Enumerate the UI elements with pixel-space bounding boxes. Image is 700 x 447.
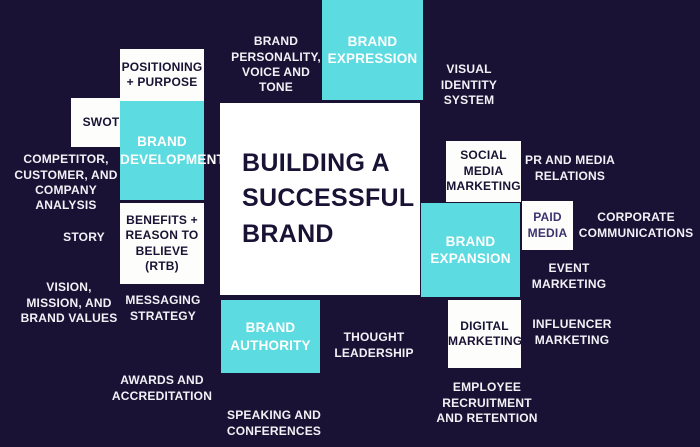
pillar-brand-authority-label: BRANDAUTHORITY	[221, 319, 320, 354]
pillar-brand-expansion: BRANDEXPANSION	[421, 203, 520, 297]
pillar-brand-authority: BRANDAUTHORITY	[221, 300, 320, 373]
node-corporate-communications: CORPORATECOMMUNICATIONS	[578, 207, 694, 244]
node-vision-mission-brand-values: VISION,MISSION, ANDBRAND VALUES	[14, 278, 124, 329]
node-social-media-marketing-label: SOCIALMEDIAMARKETING	[446, 148, 521, 194]
pillar-brand-development-label: BRANDDEVELOPMENT	[120, 133, 204, 168]
node-vision-mission-brand-values-label: VISION,MISSION, ANDBRAND VALUES	[14, 280, 124, 326]
node-brand-personality-voice-tone-label: BRANDPERSONALITY,VOICE ANDTONE	[230, 34, 322, 95]
node-speaking-and-conferences-label: SPEAKING ANDCONFERENCES	[222, 408, 326, 439]
node-brand-personality-voice-tone: BRANDPERSONALITY,VOICE ANDTONE	[230, 31, 322, 99]
node-corporate-communications-label: CORPORATECOMMUNICATIONS	[578, 210, 694, 241]
node-event-marketing-label: EVENTMARKETING	[524, 261, 614, 292]
center-card-building-a-successful-brand: BUILDING ASUCCESSFULBRAND	[220, 103, 420, 295]
node-social-media-marketing: SOCIALMEDIAMARKETING	[446, 141, 521, 202]
node-employee-recruitment-retention: EMPLOYEERECRUITMENTAND RETENTION	[434, 378, 540, 429]
node-pr-and-media-relations-label: PR AND MEDIARELATIONS	[522, 153, 618, 184]
node-thought-leadership: THOUGHTLEADERSHIP	[330, 327, 418, 364]
node-event-marketing: EVENTMARKETING	[524, 258, 614, 295]
pillar-brand-expansion-label: BRANDEXPANSION	[421, 233, 520, 268]
node-influencer-marketing: INFLUENCERMARKETING	[524, 314, 620, 351]
pillar-brand-expression: BRANDEXPRESSION	[322, 0, 423, 100]
center-card-label: BUILDING ASUCCESSFULBRAND	[242, 146, 414, 253]
node-story-label: STORY	[48, 230, 120, 245]
node-visual-identity-system-label: VISUALIDENTITYSYSTEM	[432, 62, 506, 108]
pillar-brand-expression-label: BRANDEXPRESSION	[322, 33, 423, 68]
node-digital-marketing-label: DIGITALMARKETING	[448, 319, 521, 350]
node-paid-media-label: PAIDMEDIA	[522, 210, 573, 241]
node-messaging-strategy: MESSAGINGSTRATEGY	[118, 290, 208, 327]
node-awards-accreditation-label: AWARDS ANDACCREDITATION	[110, 373, 214, 404]
node-awards-accreditation: AWARDS ANDACCREDITATION	[110, 370, 214, 407]
node-benefits-reason-to-believe: BENEFITS +REASON TOBELIEVE(RTB)	[120, 203, 204, 284]
node-positioning-purpose-label: POSITIONING+ PURPOSE	[120, 60, 204, 91]
node-story: STORY	[48, 228, 120, 248]
pillar-brand-development: BRANDDEVELOPMENT	[120, 101, 204, 200]
node-employee-recruitment-retention-label: EMPLOYEERECRUITMENTAND RETENTION	[434, 380, 540, 426]
brand-framework-diagram: BUILDING ASUCCESSFULBRAND POSITIONING+ P…	[0, 0, 700, 447]
node-messaging-strategy-label: MESSAGINGSTRATEGY	[118, 293, 208, 324]
node-paid-media: PAIDMEDIA	[522, 201, 573, 250]
node-influencer-marketing-label: INFLUENCERMARKETING	[524, 317, 620, 348]
node-competitor-customer-company-analysis: COMPETITOR,CUSTOMER, ANDCOMPANYANALYSIS	[10, 150, 122, 216]
node-competitor-customer-company-analysis-label: COMPETITOR,CUSTOMER, ANDCOMPANYANALYSIS	[10, 152, 122, 213]
node-thought-leadership-label: THOUGHTLEADERSHIP	[330, 330, 418, 361]
node-speaking-and-conferences: SPEAKING ANDCONFERENCES	[222, 405, 326, 442]
node-benefits-reason-to-believe-label: BENEFITS +REASON TOBELIEVE(RTB)	[120, 213, 204, 274]
node-positioning-purpose: POSITIONING+ PURPOSE	[120, 49, 204, 101]
node-digital-marketing: DIGITALMARKETING	[448, 300, 521, 368]
node-pr-and-media-relations: PR AND MEDIARELATIONS	[522, 150, 618, 187]
node-visual-identity-system: VISUALIDENTITYSYSTEM	[432, 59, 506, 112]
